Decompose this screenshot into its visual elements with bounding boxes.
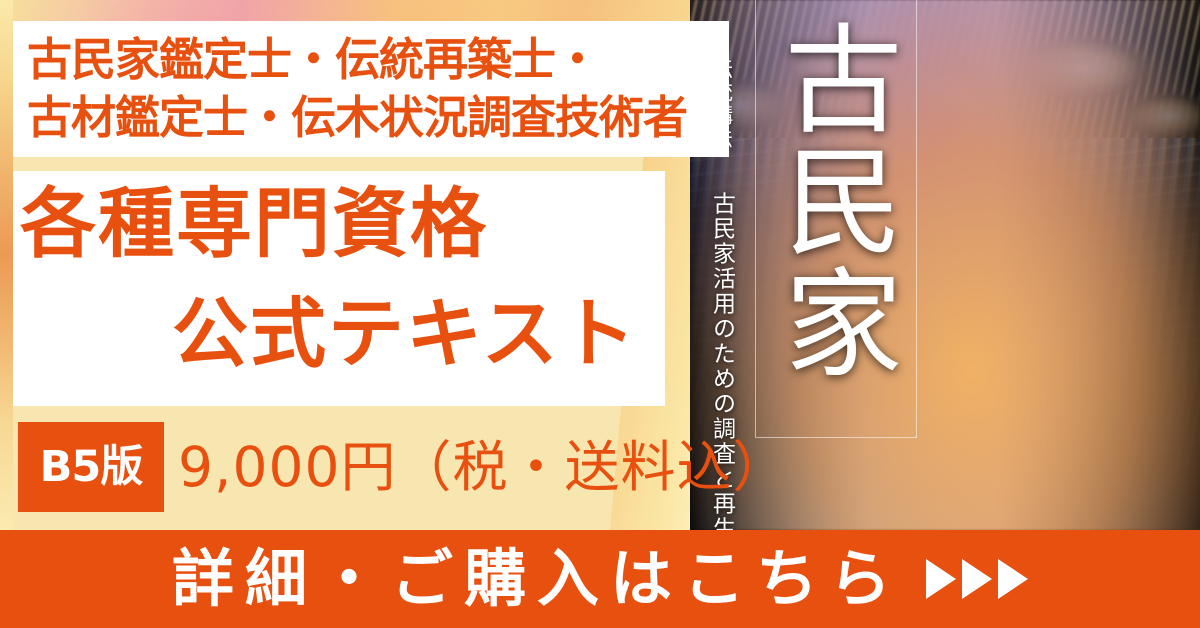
headline-line-1: 古民家鑑定士・伝統再築士・	[27, 31, 729, 90]
cta-arrow-icon	[926, 559, 1028, 599]
promo-banner: 古民家 伝統構法 古民家活用のための調査と再生の 古民家鑑定士・伝統再築士・ 古…	[0, 0, 1200, 628]
format-badge: B5版	[18, 422, 164, 512]
headline-block: 古民家鑑定士・伝統再築士・ 古材鑑定士・伝木状況調査技術者	[13, 21, 729, 157]
cover-title-text: 古民家	[768, 18, 903, 384]
title-line-1: 各種専門資格	[20, 186, 488, 262]
headline-line-2: 古材鑑定士・伝木状況調査技術者	[27, 89, 729, 148]
cta-bar[interactable]: 詳細・ご購入はこちら	[0, 530, 1200, 628]
title-line-2: 公式テキスト	[172, 296, 638, 372]
cta-label: 詳細・ご購入はこちら	[172, 548, 902, 610]
price-text: 9,000円（税・送料込）	[178, 424, 788, 510]
format-badge-label: B5版	[40, 446, 143, 489]
left-gradient-strip	[0, 0, 13, 530]
